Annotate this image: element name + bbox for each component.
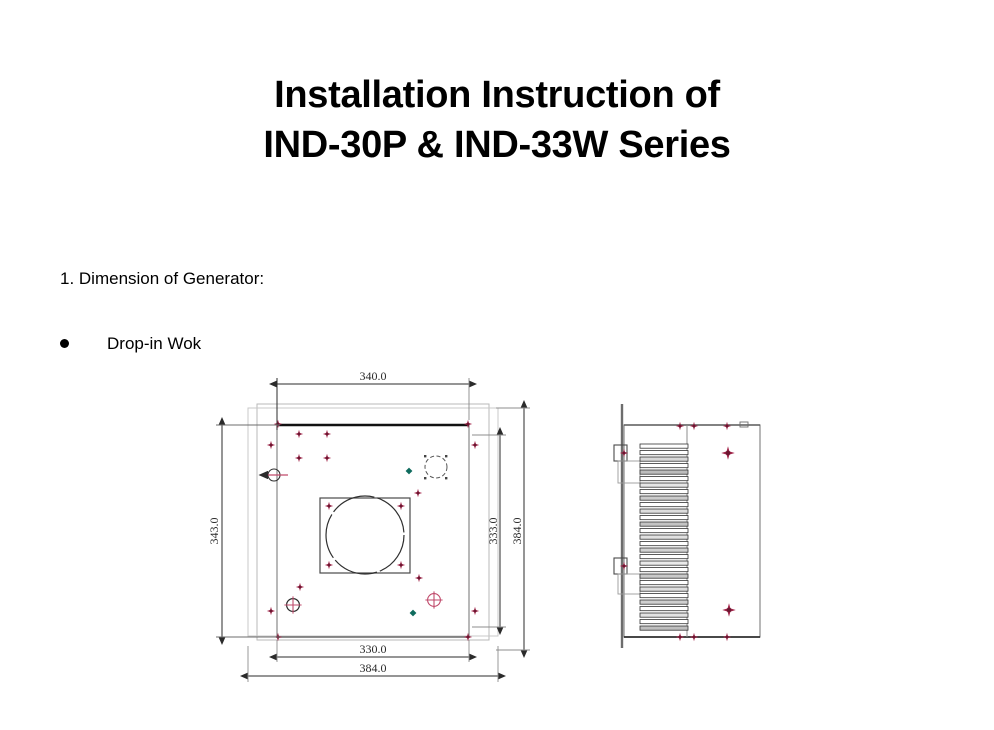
ventilation-fins (640, 444, 688, 630)
dimension-right-inner-height-label: 333.0 (486, 518, 500, 545)
mount-point-marker (323, 430, 331, 438)
detail-dashed-circle (425, 456, 447, 478)
dimension-bottom-inner-width: 330.0 (277, 640, 469, 662)
side-view-marker (676, 422, 684, 430)
slide-title: Installation Instruction of IND-30P & IN… (0, 70, 994, 170)
edge-marker (471, 607, 479, 615)
burner-corner-marker (397, 502, 405, 510)
scatter-marker (415, 574, 423, 582)
bullet-list-item: Drop-in Wok (60, 333, 201, 355)
side-view-group (614, 404, 760, 648)
dimension-bottom-inner-width-label: 330.0 (360, 642, 387, 656)
dimension-right-outer-height-label: 384.0 (510, 518, 524, 545)
title-line-2: IND-30P & IND-33W Series (0, 120, 994, 170)
burner-corner-marker (325, 561, 333, 569)
crosshair-target-right (425, 591, 442, 608)
corner-marker (464, 420, 472, 428)
teal-diamond-marker-1 (406, 468, 413, 475)
corner-marker (274, 420, 282, 428)
teal-diamond-marker-2 (410, 610, 417, 617)
side-view-star-marker (721, 446, 734, 459)
dimension-top-width: 340.0 (277, 369, 469, 430)
top-view-construction-frame (248, 408, 498, 636)
mount-point-marker (323, 454, 331, 462)
dimension-left-height-label: 343.0 (207, 518, 221, 545)
dimension-left-height: 343.0 (207, 425, 280, 637)
dimension-top-width-label: 340.0 (360, 369, 387, 383)
edge-marker (267, 441, 275, 449)
side-view-marker (723, 422, 731, 430)
top-view-group: 340.0 343.0 333.0 (207, 369, 530, 682)
crosshair-target-left (284, 596, 301, 613)
scatter-marker (296, 583, 304, 591)
side-view-marker (723, 633, 731, 641)
side-view-marker (690, 422, 698, 430)
side-view-marker (690, 633, 698, 641)
dimension-right-outer-height: 384.0 (496, 408, 530, 650)
slide-canvas: Installation Instruction of IND-30P & IN… (0, 0, 994, 730)
mount-point-marker (295, 430, 303, 438)
section-heading: 1. Dimension of Generator: (60, 268, 264, 290)
side-view-star-marker (722, 603, 735, 616)
bullet-dot-icon (60, 339, 69, 348)
dimension-drawing: 340.0 343.0 333.0 (200, 360, 820, 700)
burner-circle (326, 496, 404, 574)
drawing-svg: 340.0 343.0 333.0 (200, 360, 820, 700)
burner-corner-marker (325, 502, 333, 510)
dimension-bottom-outer-width-label: 384.0 (360, 661, 387, 675)
side-view-marker (676, 633, 684, 641)
bullet-item-label: Drop-in Wok (107, 333, 201, 355)
edge-marker (267, 607, 275, 615)
title-line-1: Installation Instruction of (0, 70, 994, 120)
mount-point-marker (295, 454, 303, 462)
left-arrow-symbol (268, 469, 288, 481)
burner-corner-marker (397, 561, 405, 569)
scatter-marker (414, 489, 422, 497)
edge-marker (471, 441, 479, 449)
burner-square (320, 498, 410, 573)
